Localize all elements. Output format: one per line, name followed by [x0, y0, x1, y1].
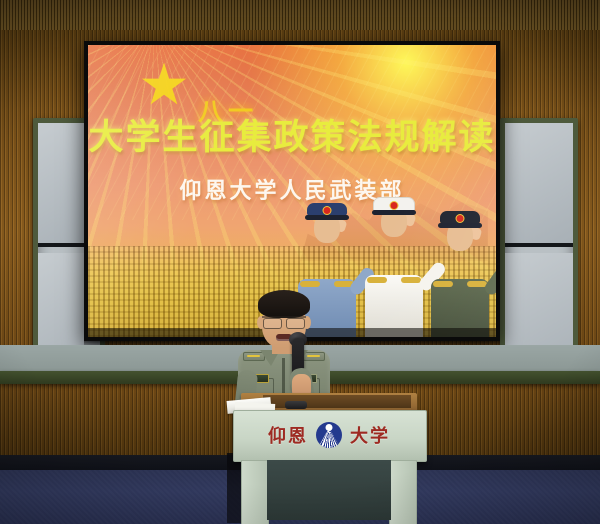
podium-word-left: 仰恩: [268, 422, 308, 448]
podium-leg-left: [241, 460, 269, 524]
podium-word-right: 大学: [350, 422, 390, 448]
podium-branding: 仰恩 大学: [233, 410, 425, 460]
podium-back-recess: [267, 460, 391, 520]
lecture-podium: 仰恩 大学: [233, 393, 425, 524]
upper-wall-panel: [0, 0, 600, 30]
epaulet-left: [243, 352, 265, 361]
remote-control: [285, 401, 307, 409]
epaulet-right: [303, 352, 325, 361]
logo-center-dot: [326, 424, 333, 431]
whiteboard-right: [500, 118, 578, 378]
glasses-icon: [262, 316, 306, 328]
university-fan-logo: [316, 422, 342, 448]
officer-hair: [258, 290, 310, 318]
photo-scene: 八一 大学生征集政策法规解读 仰恩大学人民武装部: [0, 0, 600, 524]
whiteboard-right-pane-top: [505, 123, 573, 247]
podium-leg-right: [389, 460, 417, 524]
